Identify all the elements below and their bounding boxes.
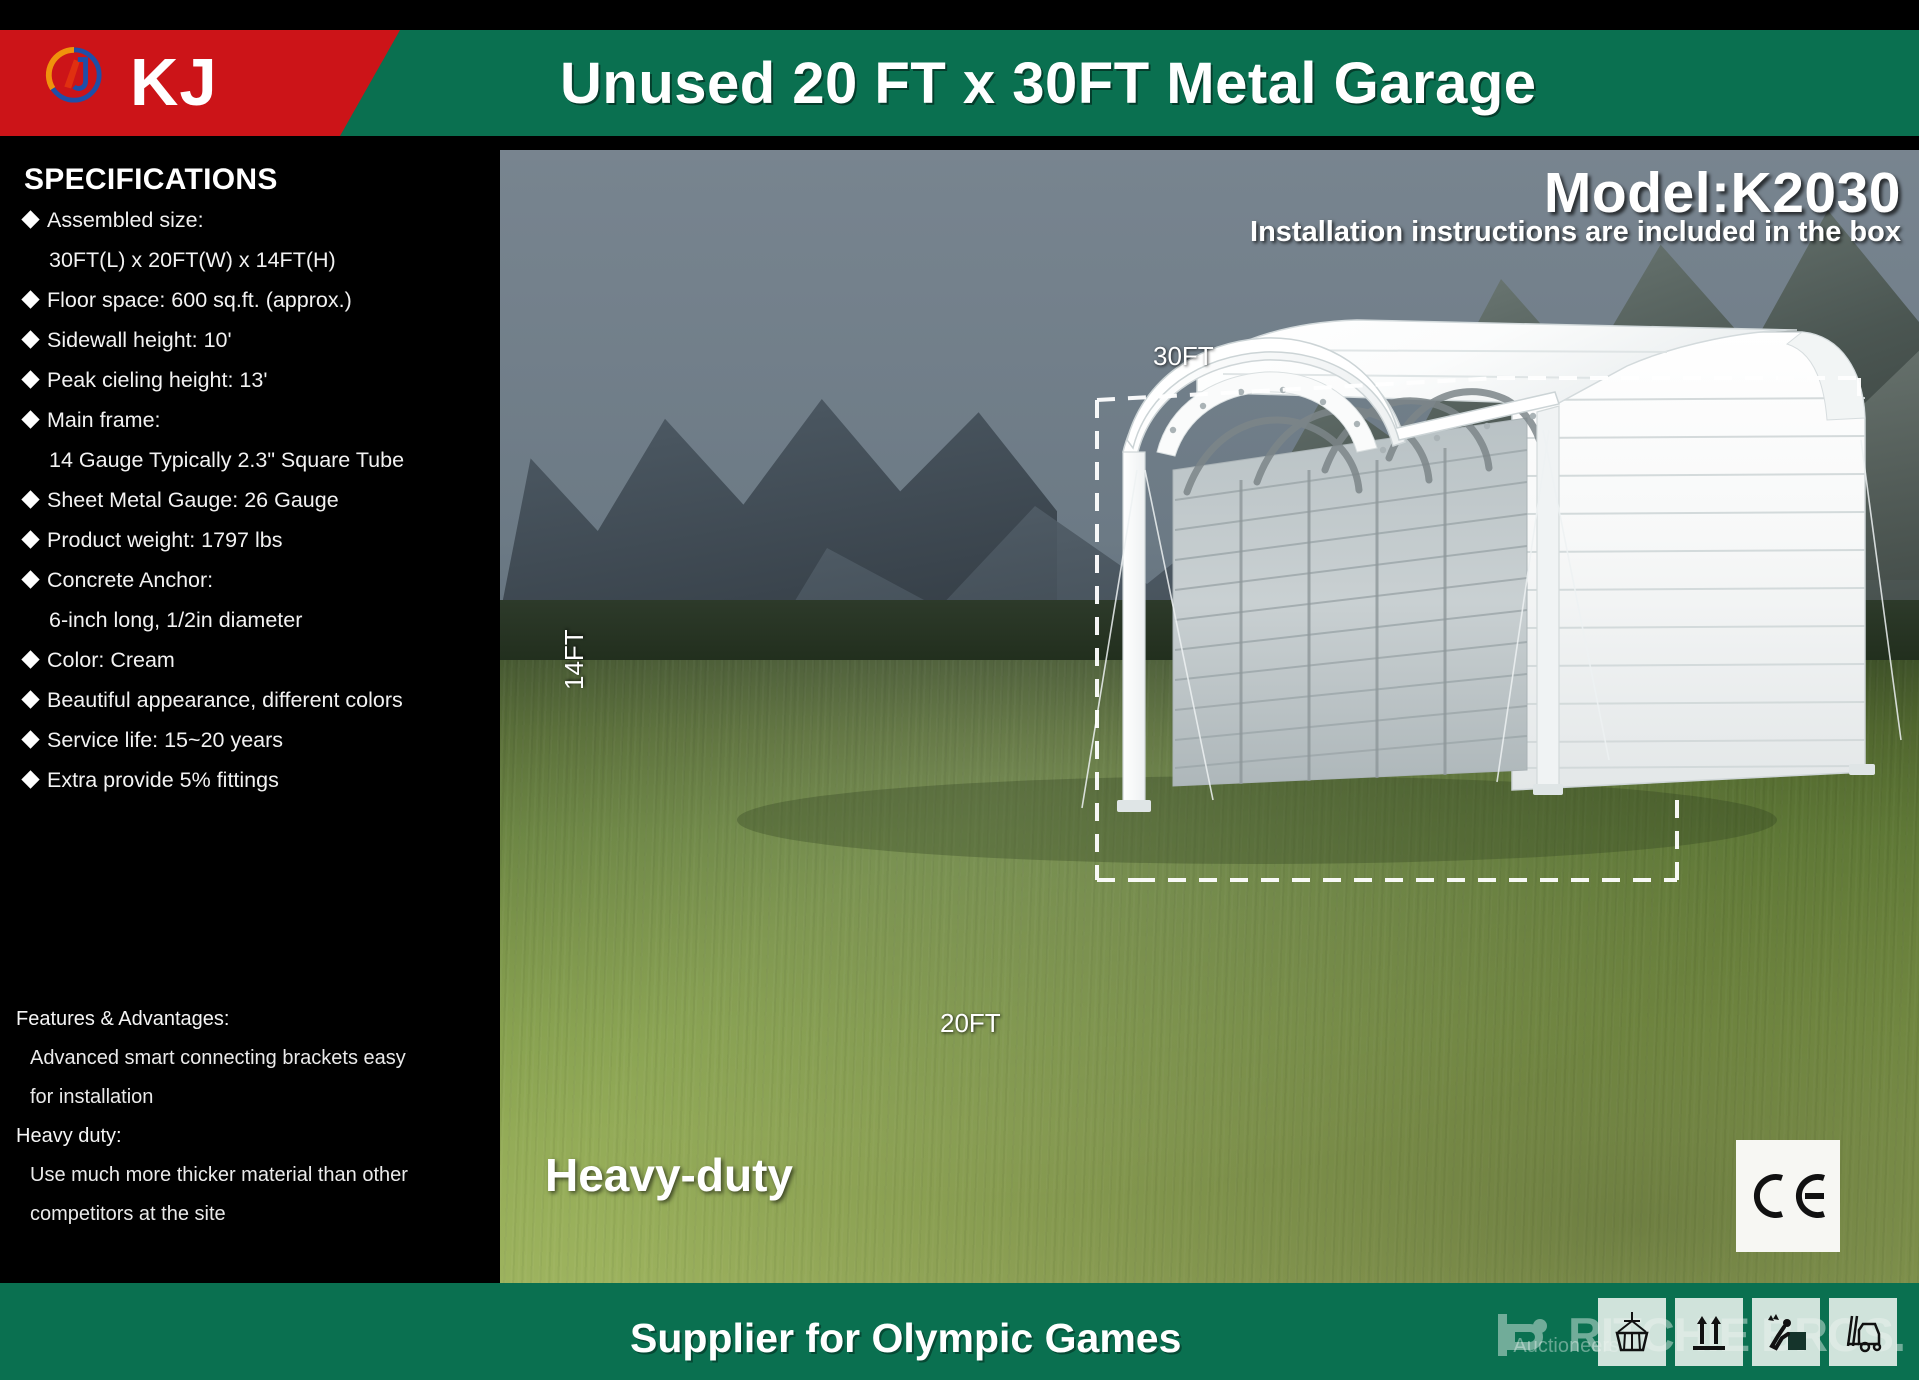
spec-item-text: Beautiful appearance, different colors bbox=[47, 680, 403, 720]
features-line-3: Use much more thicker material than othe… bbox=[16, 1156, 496, 1195]
ce-mark-badge bbox=[1736, 1140, 1840, 1252]
spec-item: Main frame: bbox=[24, 400, 494, 440]
top-banner: KJ Unused 20 FT x 30FT Metal Garage bbox=[0, 0, 1919, 150]
diamond-bullet-icon bbox=[21, 570, 39, 588]
features-heading: Features & Advantages: bbox=[16, 1000, 496, 1039]
spec-item-text: Concrete Anchor: bbox=[47, 560, 213, 600]
diamond-bullet-icon bbox=[21, 210, 39, 228]
spec-item: Assembled size: bbox=[24, 200, 494, 240]
diamond-bullet-icon bbox=[21, 490, 39, 508]
dimension-width-label: 20FT bbox=[940, 1008, 1001, 1039]
spec-item: Sidewall height: 10' bbox=[24, 320, 494, 360]
this-side-up-icon bbox=[1675, 1298, 1743, 1366]
brand-name: KJ bbox=[130, 47, 218, 119]
spec-item-subtext: 14 Gauge Typically 2.3" Square Tube bbox=[24, 440, 494, 480]
diamond-bullet-icon bbox=[21, 530, 39, 548]
spec-item-text: Peak cieling height: 13' bbox=[47, 360, 267, 400]
spec-item-text: Main frame: bbox=[47, 400, 161, 440]
ce-icon bbox=[1746, 1170, 1830, 1222]
spec-item-text: Assembled size: bbox=[47, 200, 204, 240]
spec-item-text: Product weight: 1797 lbs bbox=[47, 520, 282, 560]
heavy-duty-heading: Heavy duty: bbox=[16, 1117, 496, 1156]
spec-item-text: Floor space: 600 sq.ft. (approx.) bbox=[47, 280, 352, 320]
spec-item: Sheet Metal Gauge: 26 Gauge bbox=[24, 480, 494, 520]
specifications-heading: SPECIFICATIONS bbox=[24, 163, 278, 197]
spec-item: Service life: 15~20 years bbox=[24, 720, 494, 760]
spec-item: Extra provide 5% fittings bbox=[24, 760, 494, 800]
product-spec-poster: SPECIFICATIONS Assembled size: 30FT(L) x… bbox=[0, 0, 1919, 1380]
dimension-length-label: 30FT bbox=[1153, 341, 1214, 372]
diamond-bullet-icon bbox=[21, 770, 39, 788]
lifting-hazard-icon bbox=[1752, 1298, 1820, 1366]
diamond-bullet-icon bbox=[21, 370, 39, 388]
spec-item: Product weight: 1797 lbs bbox=[24, 520, 494, 560]
spec-item: Concrete Anchor: bbox=[24, 560, 494, 600]
container-lift-icon bbox=[1598, 1298, 1666, 1366]
features-advantages-block: Features & Advantages: Advanced smart co… bbox=[16, 1000, 496, 1234]
spec-item-subtext: 6-inch long, 1/2in diameter bbox=[24, 600, 494, 640]
spec-item: Color: Cream bbox=[24, 640, 494, 680]
forklift-icon bbox=[1829, 1298, 1897, 1366]
specifications-panel: SPECIFICATIONS Assembled size: 30FT(L) x… bbox=[0, 0, 500, 1283]
features-line-2: for installation bbox=[16, 1078, 496, 1117]
diamond-bullet-icon bbox=[21, 330, 39, 348]
handling-icons-row bbox=[1598, 1298, 1897, 1366]
diamond-bullet-icon bbox=[21, 690, 39, 708]
features-line-1: Advanced smart connecting brackets easy bbox=[16, 1039, 496, 1078]
spec-item: Floor space: 600 sq.ft. (approx.) bbox=[24, 280, 494, 320]
diamond-bullet-icon bbox=[21, 730, 39, 748]
spec-item-subtext: 30FT(L) x 20FT(W) x 14FT(H) bbox=[24, 240, 494, 280]
spec-item-text: Service life: 15~20 years bbox=[47, 720, 283, 760]
spec-item-text: Color: Cream bbox=[47, 640, 175, 680]
supplier-tagline: Supplier for Olympic Games bbox=[630, 1315, 1181, 1362]
spec-item-text: Extra provide 5% fittings bbox=[47, 760, 279, 800]
diamond-bullet-icon bbox=[21, 290, 39, 308]
specifications-list: Assembled size: 30FT(L) x 20FT(W) x 14FT… bbox=[24, 200, 494, 800]
diamond-bullet-icon bbox=[21, 410, 39, 428]
spec-item-text: Sidewall height: 10' bbox=[47, 320, 232, 360]
diamond-bullet-icon bbox=[21, 650, 39, 668]
kj-circle-logo-icon bbox=[45, 46, 103, 104]
spec-item: Beautiful appearance, different colors bbox=[24, 680, 494, 720]
dimension-height-label: 14FT bbox=[559, 629, 590, 690]
features-line-4: competitors at the site bbox=[16, 1195, 496, 1234]
model-note: Installation instructions are included i… bbox=[1250, 216, 1901, 249]
page-title: Unused 20 FT x 30FT Metal Garage bbox=[560, 50, 1880, 117]
spec-item: Peak cieling height: 13' bbox=[24, 360, 494, 400]
heavy-duty-callout: Heavy-duty bbox=[545, 1148, 793, 1202]
spec-item-text: Sheet Metal Gauge: 26 Gauge bbox=[47, 480, 339, 520]
